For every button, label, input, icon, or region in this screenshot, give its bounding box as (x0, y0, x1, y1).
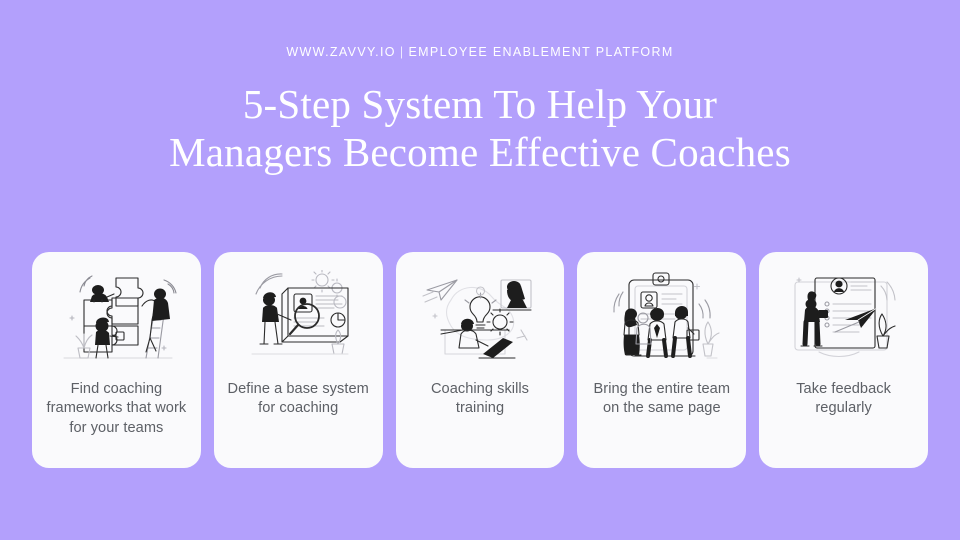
step-card-5-label: Take feedback regularly (767, 380, 920, 419)
step-card-3-label: Coaching skills training (404, 380, 557, 419)
team-clipboard-icon (599, 270, 724, 366)
slide: WWW.ZAVVY.IO|EMPLOYEE ENABLEMENT PLATFOR… (0, 0, 960, 540)
puzzle-assembly-icon (54, 270, 179, 366)
brand-eyebrow: WWW.ZAVVY.IO|EMPLOYEE ENABLEMENT PLATFOR… (286, 45, 673, 59)
step-card-list: Find coaching frameworks that work for y… (32, 252, 928, 468)
step-card-1-label: Find coaching frameworks that work for y… (40, 380, 193, 438)
dashboard-magnifier-icon (236, 270, 361, 366)
lightbulb-learning-icon (417, 270, 542, 366)
step-card-1[interactable]: Find coaching frameworks that work for y… (32, 252, 201, 468)
step-card-4[interactable]: Bring the entire team on the same page (577, 252, 746, 468)
brand-tagline: EMPLOYEE ENABLEMENT PLATFORM (408, 45, 673, 59)
step-card-2-label: Define a base system for coaching (222, 380, 375, 419)
page-title-line-2: Managers Become Effective Coaches (169, 128, 791, 176)
feedback-form-icon (781, 270, 906, 366)
step-card-4-label: Bring the entire team on the same page (585, 380, 738, 419)
page-title-line-1: 5-Step System To Help Your (169, 80, 791, 128)
step-card-2[interactable]: Define a base system for coaching (214, 252, 383, 468)
eyebrow-separator: | (396, 45, 409, 59)
brand-url: WWW.ZAVVY.IO (286, 45, 396, 59)
step-card-3[interactable]: Coaching skills training (396, 252, 565, 468)
step-card-5[interactable]: Take feedback regularly (759, 252, 928, 468)
page-title: 5-Step System To Help Your Managers Beco… (169, 80, 791, 176)
